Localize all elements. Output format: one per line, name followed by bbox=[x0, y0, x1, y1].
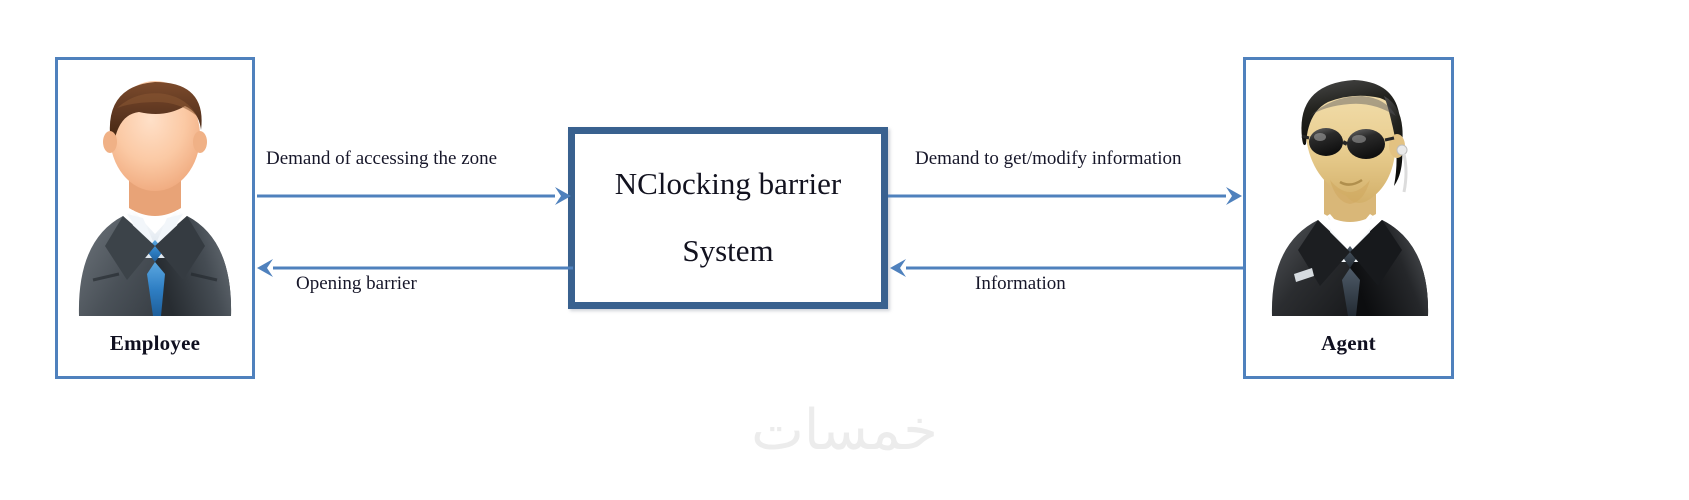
actor-label-employee: Employee bbox=[58, 331, 252, 356]
flow-system-to-agent-arrow bbox=[888, 183, 1246, 209]
flow-label-demand-of-accessing-the-zone: Demand of accessing the zone bbox=[266, 148, 497, 170]
flow-label-demand-to-get-modify-information: Demand to get/modify information bbox=[915, 148, 1181, 170]
flow-label-opening-barrier: Opening barrier bbox=[296, 273, 417, 295]
secret-agent-avatar-icon bbox=[1246, 68, 1451, 318]
diagram-canvas: Employee bbox=[0, 0, 1689, 500]
actor-agent[interactable]: Agent bbox=[1243, 57, 1454, 379]
system-box-title-line1: NClocking barrier bbox=[615, 168, 841, 201]
actor-employee[interactable]: Employee bbox=[55, 57, 255, 379]
actor-label-agent: Agent bbox=[1246, 331, 1451, 356]
watermark: خمسات bbox=[0, 398, 1689, 463]
system-box[interactable]: NClocking barrier System bbox=[568, 127, 888, 309]
flow-employee-to-system-arrow bbox=[255, 183, 575, 209]
flow-agent-to-system-arrow bbox=[888, 255, 1246, 281]
flow-label-information: Information bbox=[975, 273, 1066, 295]
system-box-title-line2: System bbox=[682, 235, 773, 268]
businessman-avatar-icon bbox=[58, 68, 252, 318]
